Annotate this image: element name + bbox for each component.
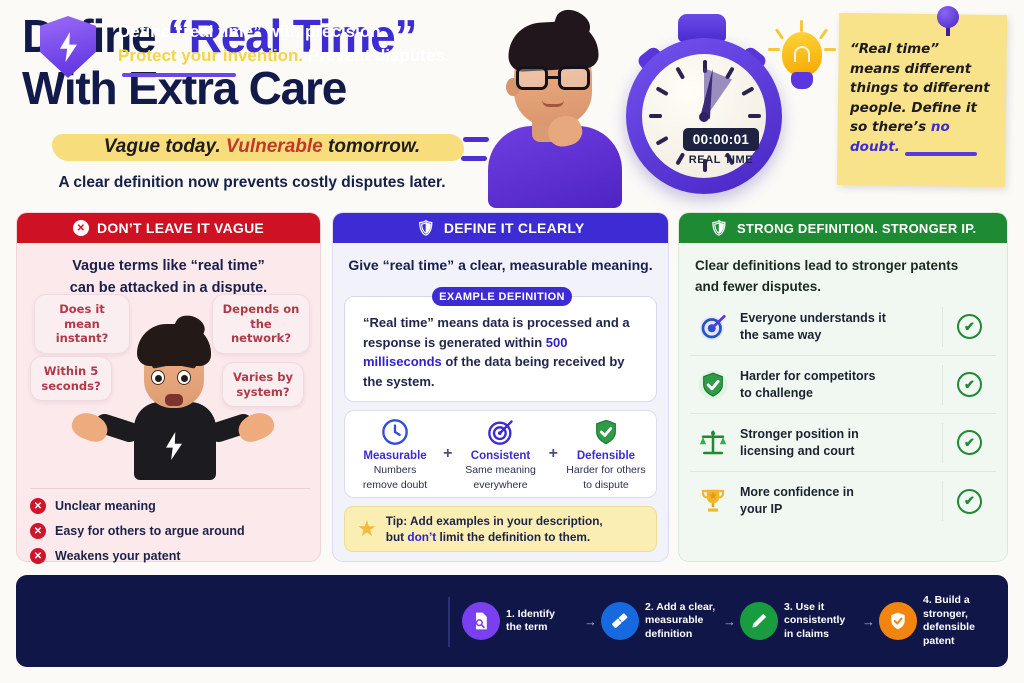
step-1-line-1: 1. Identify (506, 608, 580, 622)
trophy-icon (690, 486, 736, 516)
step-2-line-2: measurable (645, 614, 719, 628)
arrow-icon: → (862, 614, 875, 629)
definition-text-a: “Real time” means data is processed and … (363, 315, 630, 350)
shield-check-icon (562, 417, 650, 447)
cta-text: Define “real time” with precision. Prote… (118, 22, 448, 66)
step-3: 3. Use it consistently in claims (740, 601, 858, 642)
step-1: 1. Identify the term (462, 602, 580, 640)
panel-define-header: 🛡 DEFINE IT CLEARLY (333, 213, 668, 243)
stopwatch-label: REAL TIME (668, 154, 774, 166)
cta-line-2-highlight: Protect your invention. (118, 46, 303, 65)
pillars-row: Measurable Numbers remove doubt + Consis… (344, 410, 657, 498)
process-steps: 1. Identify the term → 2. Add a clear, m… (462, 588, 1002, 654)
pillar-title: Defensible (562, 450, 650, 462)
subtitle: Vague today. Vulnerable tomorrow. (62, 136, 462, 158)
pillar-measurable: Measurable Numbers remove doubt (351, 417, 439, 492)
pillar-sub-2: to dispute (562, 479, 650, 492)
stopwatch-display: 00:00:01 (683, 128, 759, 151)
benefit-line-2: to challenge (740, 385, 942, 402)
ruler-icon (601, 602, 639, 640)
x-circle-icon: ✕ (30, 548, 46, 564)
divider (448, 597, 450, 647)
benefits-list: Everyone understands it the same way ✔ H… (690, 298, 996, 530)
step-4-line-2: stronger, (923, 608, 997, 622)
sticky-line-4: people. Define it (850, 99, 1000, 119)
x-circle-icon: ✕ (30, 523, 46, 539)
step-1-line-2: the term (506, 621, 580, 635)
cta-line-1: Define “real time” with precision. (118, 22, 448, 42)
check-icon: ✔ (957, 372, 982, 397)
subtitle-part-a: Vague today. (104, 136, 226, 157)
sticky-line-5a: so there’s (850, 119, 931, 135)
pillar-sub-2: remove doubt (351, 479, 439, 492)
speech-bubble: Does it mean instant? (34, 294, 130, 354)
cta-line-2-rest: Prevent disputes. (303, 46, 449, 65)
clock-icon (351, 417, 439, 447)
pillar-sub-2: everywhere (457, 479, 545, 492)
list-item-label: Unclear meaning (55, 499, 156, 513)
pillar-sub-1: Harder for others (562, 464, 650, 477)
tip-line-2-highlight: don’t (407, 530, 436, 544)
check-icon: ✔ (957, 489, 982, 514)
pillar-sub-1: Same meaning (457, 464, 545, 477)
star-icon: ★ (357, 518, 377, 540)
step-4-line-3: defensible patent (923, 621, 997, 648)
step-3-line-3: in claims (784, 628, 858, 642)
check-icon: ✔ (957, 430, 982, 455)
pillar-sub-1: Numbers (351, 464, 439, 477)
panel-strong-title: STRONG DEFINITION. STRONGER IP. (737, 221, 976, 236)
panel-strong-header: 🛡 STRONG DEFINITION. STRONGER IP. (679, 213, 1007, 243)
example-definition-badge: EXAMPLE DEFINITION (432, 287, 572, 306)
step-3-line-1: 3. Use it (784, 601, 858, 615)
definition-card: “Real time” means data is processed and … (344, 296, 657, 402)
list-item-label: Easy for others to argue around (55, 524, 245, 538)
tip-line-2c: limit the definition to them. (436, 530, 590, 544)
glasses-icon (515, 66, 593, 90)
arrow-icon: → (723, 614, 736, 629)
benefit-row: More confidence in your IP ✔ (690, 472, 996, 530)
shield-check-icon: 🛡 (417, 219, 436, 237)
list-item: ✕ Easy for others to argue around (30, 523, 310, 539)
pillar-consistent: Consistent Same meaning everywhere (457, 417, 545, 492)
panel-define-lead: Give “real time” a clear, measurable mea… (347, 257, 654, 273)
tip-line-2a: but (386, 530, 408, 544)
shield-check-icon (879, 602, 917, 640)
sticky-line-2: means different (850, 60, 1000, 80)
benefit-line-2: your IP (740, 501, 942, 518)
pencil-icon (740, 602, 778, 640)
cta-underline (122, 73, 236, 77)
benefit-line-2: the same way (740, 327, 942, 344)
tagline: A clear definition now prevents costly d… (22, 174, 482, 192)
panel-define-title: DEFINE IT CLEARLY (444, 220, 585, 236)
benefit-row: Stronger position in licensing and court… (690, 414, 996, 472)
benefit-row: Harder for competitors to challenge ✔ (690, 356, 996, 414)
pushpin-icon (935, 6, 961, 36)
subtitle-part-c: tomorrow. (323, 136, 420, 157)
benefit-line-2: licensing and court (740, 443, 942, 460)
panel-vague-lead-1: Vague terms like “real time” (31, 256, 306, 276)
benefit-line-1: Everyone understands it (740, 310, 942, 327)
speech-bubble: Depends on the network? (212, 294, 310, 354)
list-item-label: Weakens your patent (55, 549, 181, 563)
target-icon (457, 417, 545, 447)
benefit-line-1: Stronger position in (740, 426, 942, 443)
speech-bubble: Within 5 seconds? (30, 356, 112, 401)
plus-separator: + (443, 445, 452, 463)
panel-vague-title: DON’T LEAVE IT VAGUE (97, 220, 264, 236)
step-4: 4. Build a stronger, defensible patent (879, 594, 997, 648)
panel-strong-lead-2: and fewer disputes. (693, 275, 993, 296)
stopwatch-illustration: 00:00:01 REAL TIME (612, 12, 794, 198)
benefit-row: Everyone understands it the same way ✔ (690, 298, 996, 356)
x-circle-icon: ✕ (30, 498, 46, 514)
pillar-defensible: Defensible Harder for others to dispute (562, 417, 650, 492)
document-search-icon (462, 602, 500, 640)
step-3-line-2: consistently (784, 614, 858, 628)
shield-check-icon: 🛡 (710, 219, 729, 237)
list-item: ✕ Unclear meaning (30, 498, 310, 514)
divider (30, 488, 310, 489)
pillar-title: Consistent (457, 450, 545, 462)
sticky-line-3: things to different (850, 79, 1000, 99)
shield-bolt-icon (40, 16, 96, 78)
step-4-line-1: 4. Build a (923, 594, 997, 608)
sticky-line-1: “Real time” (850, 40, 1000, 60)
tip-line-1: Tip: Add examples in your description, (386, 513, 603, 529)
scales-icon (690, 428, 736, 458)
shield-check-icon (690, 370, 736, 400)
benefit-line-1: Harder for competitors (740, 368, 942, 385)
step-2-line-3: definition (645, 628, 719, 642)
tip-box: ★ Tip: Add examples in your description,… (344, 506, 657, 552)
lightbulb-icon (770, 24, 832, 110)
pillar-title: Measurable (351, 450, 439, 462)
x-circle-icon: ✕ (73, 220, 89, 236)
tip-line-2: but don’t limit the definition to them. (386, 529, 603, 545)
step-2: 2. Add a clear, measurable definition (601, 601, 719, 642)
panel-strong-lead-1: Clear definitions lead to stronger paten… (693, 254, 993, 275)
subtitle-part-vulnerable: Vulnerable (226, 136, 323, 157)
panel-vague-header: ✕ DON’T LEAVE IT VAGUE (17, 213, 320, 243)
step-2-line-1: 2. Add a clear, (645, 601, 719, 615)
cta-line-2: Protect your invention. Prevent disputes… (118, 46, 448, 66)
panel-vague-list: ✕ Unclear meaning ✕ Easy for others to a… (30, 488, 310, 573)
target-icon (690, 312, 736, 342)
benefit-line-1: More confidence in (740, 484, 942, 501)
check-icon: ✔ (957, 314, 982, 339)
sticky-underline (905, 152, 977, 156)
list-item: ✕ Weakens your patent (30, 548, 310, 564)
speech-bubble: Varies by system? (222, 362, 304, 407)
sticky-note-text: “Real time” means different things to di… (850, 40, 1000, 157)
question-bubbles: Does it mean instant? Depends on the net… (16, 282, 321, 477)
plus-separator: + (549, 445, 558, 463)
arrow-icon: → (584, 614, 597, 629)
